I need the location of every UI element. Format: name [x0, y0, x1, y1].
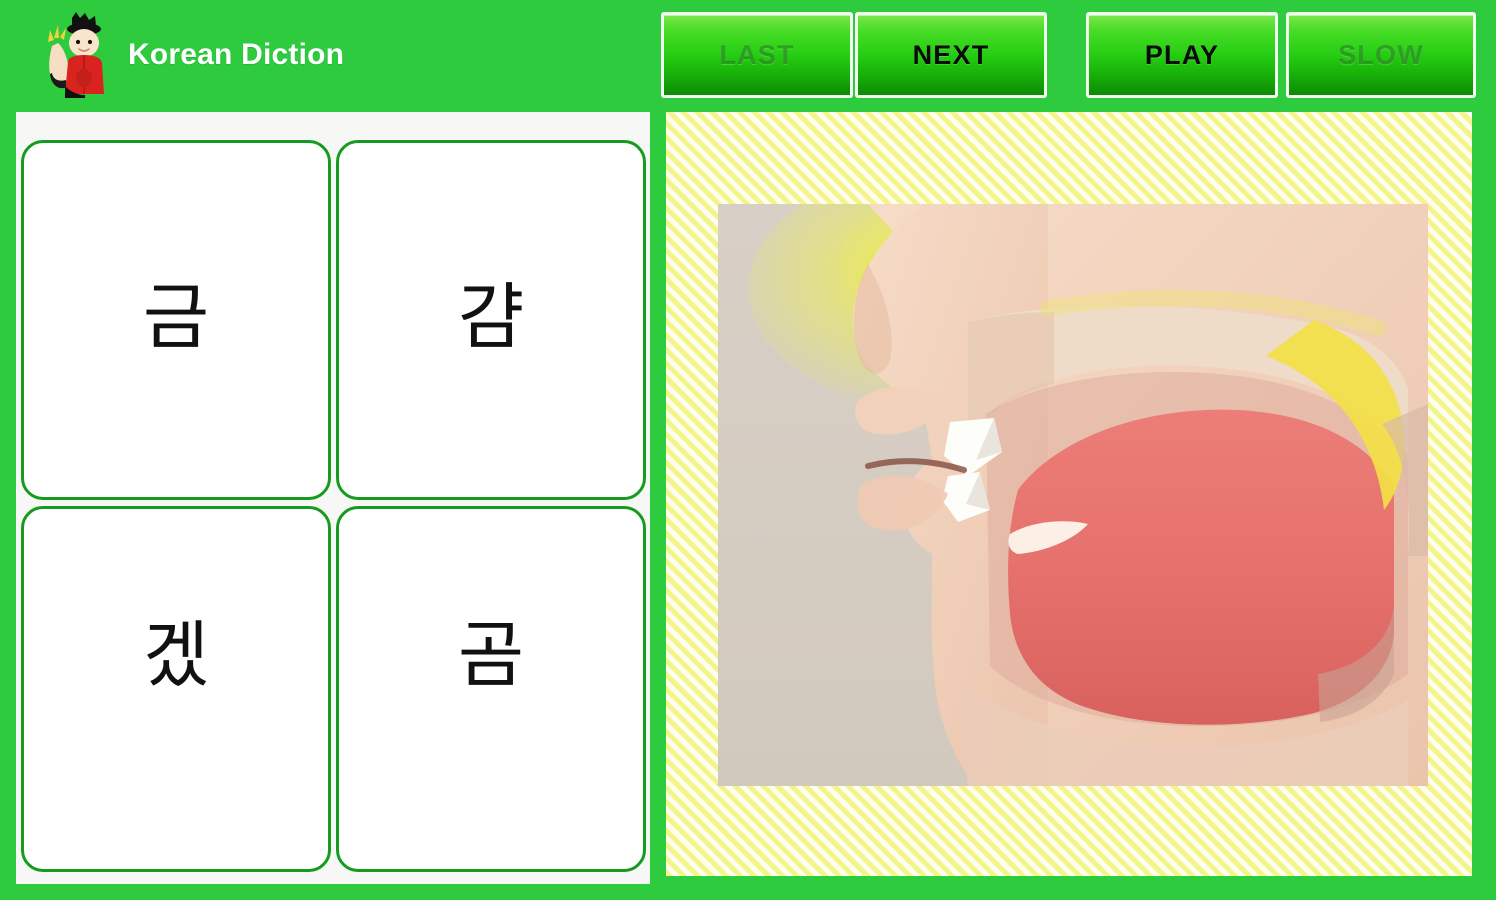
- slow-button[interactable]: SLOW: [1286, 12, 1476, 98]
- next-button-label: NEXT: [913, 40, 990, 71]
- last-button[interactable]: LAST: [661, 12, 853, 98]
- play-button-label: PLAY: [1145, 40, 1219, 71]
- syllable-card-grid: 금 걈 겠 곰: [16, 112, 650, 884]
- syllable-card[interactable]: 금: [21, 140, 331, 500]
- app-root: Korean Diction LAST NEXT PLAY SLOW 금 걈 겠…: [0, 0, 1496, 900]
- syllable-card[interactable]: 겠: [21, 506, 331, 872]
- brand: Korean Diction: [38, 8, 344, 102]
- app-header: Korean Diction LAST NEXT PLAY SLOW: [0, 0, 1496, 110]
- syllable-card-label: 금: [24, 281, 328, 353]
- next-button[interactable]: NEXT: [855, 12, 1047, 98]
- korean-boy-mascot-icon: [38, 12, 112, 98]
- syllable-card-label: 겠: [24, 619, 328, 691]
- syllable-card-label: 걈: [339, 281, 643, 353]
- sagittal-mouth-diagram: [718, 204, 1428, 786]
- syllable-card-label: 곰: [339, 619, 643, 691]
- last-button-label: LAST: [719, 40, 794, 71]
- syllable-card[interactable]: 곰: [336, 506, 646, 872]
- slow-button-label: SLOW: [1338, 40, 1424, 71]
- play-button[interactable]: PLAY: [1086, 12, 1278, 98]
- syllable-card[interactable]: 걈: [336, 140, 646, 500]
- page-title: Korean Diction: [128, 38, 344, 72]
- articulation-panel: [666, 112, 1472, 876]
